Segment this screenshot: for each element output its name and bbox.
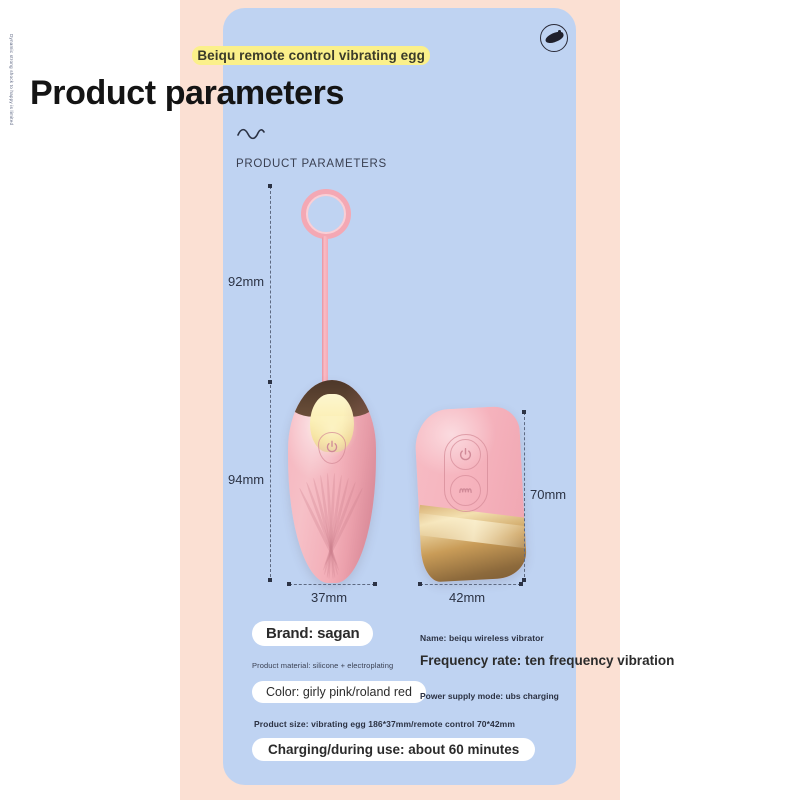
dimension-tick-middle <box>268 380 272 384</box>
spec-color-text: Color: girly pink/roland red <box>252 681 426 703</box>
dimension-label-70mm: 70mm <box>530 487 566 502</box>
spec-row-color: Color: girly pink/roland red <box>252 681 426 703</box>
spec-material-text: Product material: silicone + electroplat… <box>252 661 393 670</box>
power-icon <box>458 447 473 462</box>
dimension-tick-egg-left <box>287 582 291 586</box>
spec-product-name: Name: beiqu wireless vibrator <box>420 628 544 646</box>
wave-squiggle-icon <box>236 126 266 140</box>
spec-row-size: Product size: vibrating egg 186*37mm/rem… <box>254 714 515 732</box>
spec-name-text: Name: beiqu wireless vibrator <box>420 633 544 643</box>
product-subtitle-text: Beiqu remote control vibrating egg <box>192 46 430 65</box>
dimension-tick-bottom <box>268 578 272 582</box>
circular-brand-seal-icon <box>540 24 570 54</box>
product-subtitle: Beiqu remote control vibrating egg <box>0 48 430 63</box>
spec-charging-text: Charging/during use: about 60 minutes <box>252 738 535 761</box>
page-title: Product parameters <box>30 74 344 113</box>
dimension-tick-egg-right <box>373 582 377 586</box>
seal-blob <box>544 30 565 44</box>
seal-circle <box>540 24 568 52</box>
spec-row-frequency: Frequency rate: ten frequency vibration <box>420 652 674 670</box>
spec-brand: Brand: sagan <box>252 621 373 646</box>
spec-power-supply-text: Power supply mode: ubs charging <box>420 691 559 701</box>
dimension-line-egg-vertical <box>270 186 271 582</box>
vibrating-egg-illustration <box>0 0 800 800</box>
seal-dot <box>558 30 561 33</box>
egg-body <box>288 380 376 583</box>
dimension-label-92mm: 92mm <box>228 274 264 289</box>
remote-control-illustration <box>418 408 523 580</box>
dimension-tick-remote-left <box>418 582 422 586</box>
retrieval-ring-gloss <box>306 194 346 234</box>
spec-row-power-supply: Power supply mode: ubs charging <box>420 686 559 704</box>
dimension-tick-remote-right <box>519 582 523 586</box>
dimension-label-37mm: 37mm <box>311 590 347 605</box>
section-label: PRODUCT PARAMETERS <box>236 158 387 170</box>
dimension-label-42mm: 42mm <box>449 590 485 605</box>
dimension-line-egg-width <box>289 584 375 585</box>
dimension-line-remote-width <box>420 584 521 585</box>
spec-frequency-text: Frequency rate: ten frequency vibration <box>420 653 674 668</box>
spec-row-material: Product material: silicone + electroplat… <box>252 655 393 673</box>
vibration-wave-icon <box>458 483 473 498</box>
spec-row-brand: Brand: sagan <box>252 621 373 646</box>
dimension-tick-remote-bottom <box>522 578 526 582</box>
dimension-tick-remote-top <box>522 410 526 414</box>
spec-row-charging: Charging/during use: about 60 minutes <box>252 738 535 761</box>
spec-size-text: Product size: vibrating egg 186*37mm/rem… <box>254 719 515 729</box>
retrieval-cord <box>322 236 328 386</box>
dimension-label-94mm: 94mm <box>228 472 264 487</box>
dimension-tick-top <box>268 184 272 188</box>
egg-shading <box>288 380 376 583</box>
dimension-line-remote-vertical <box>524 412 525 582</box>
